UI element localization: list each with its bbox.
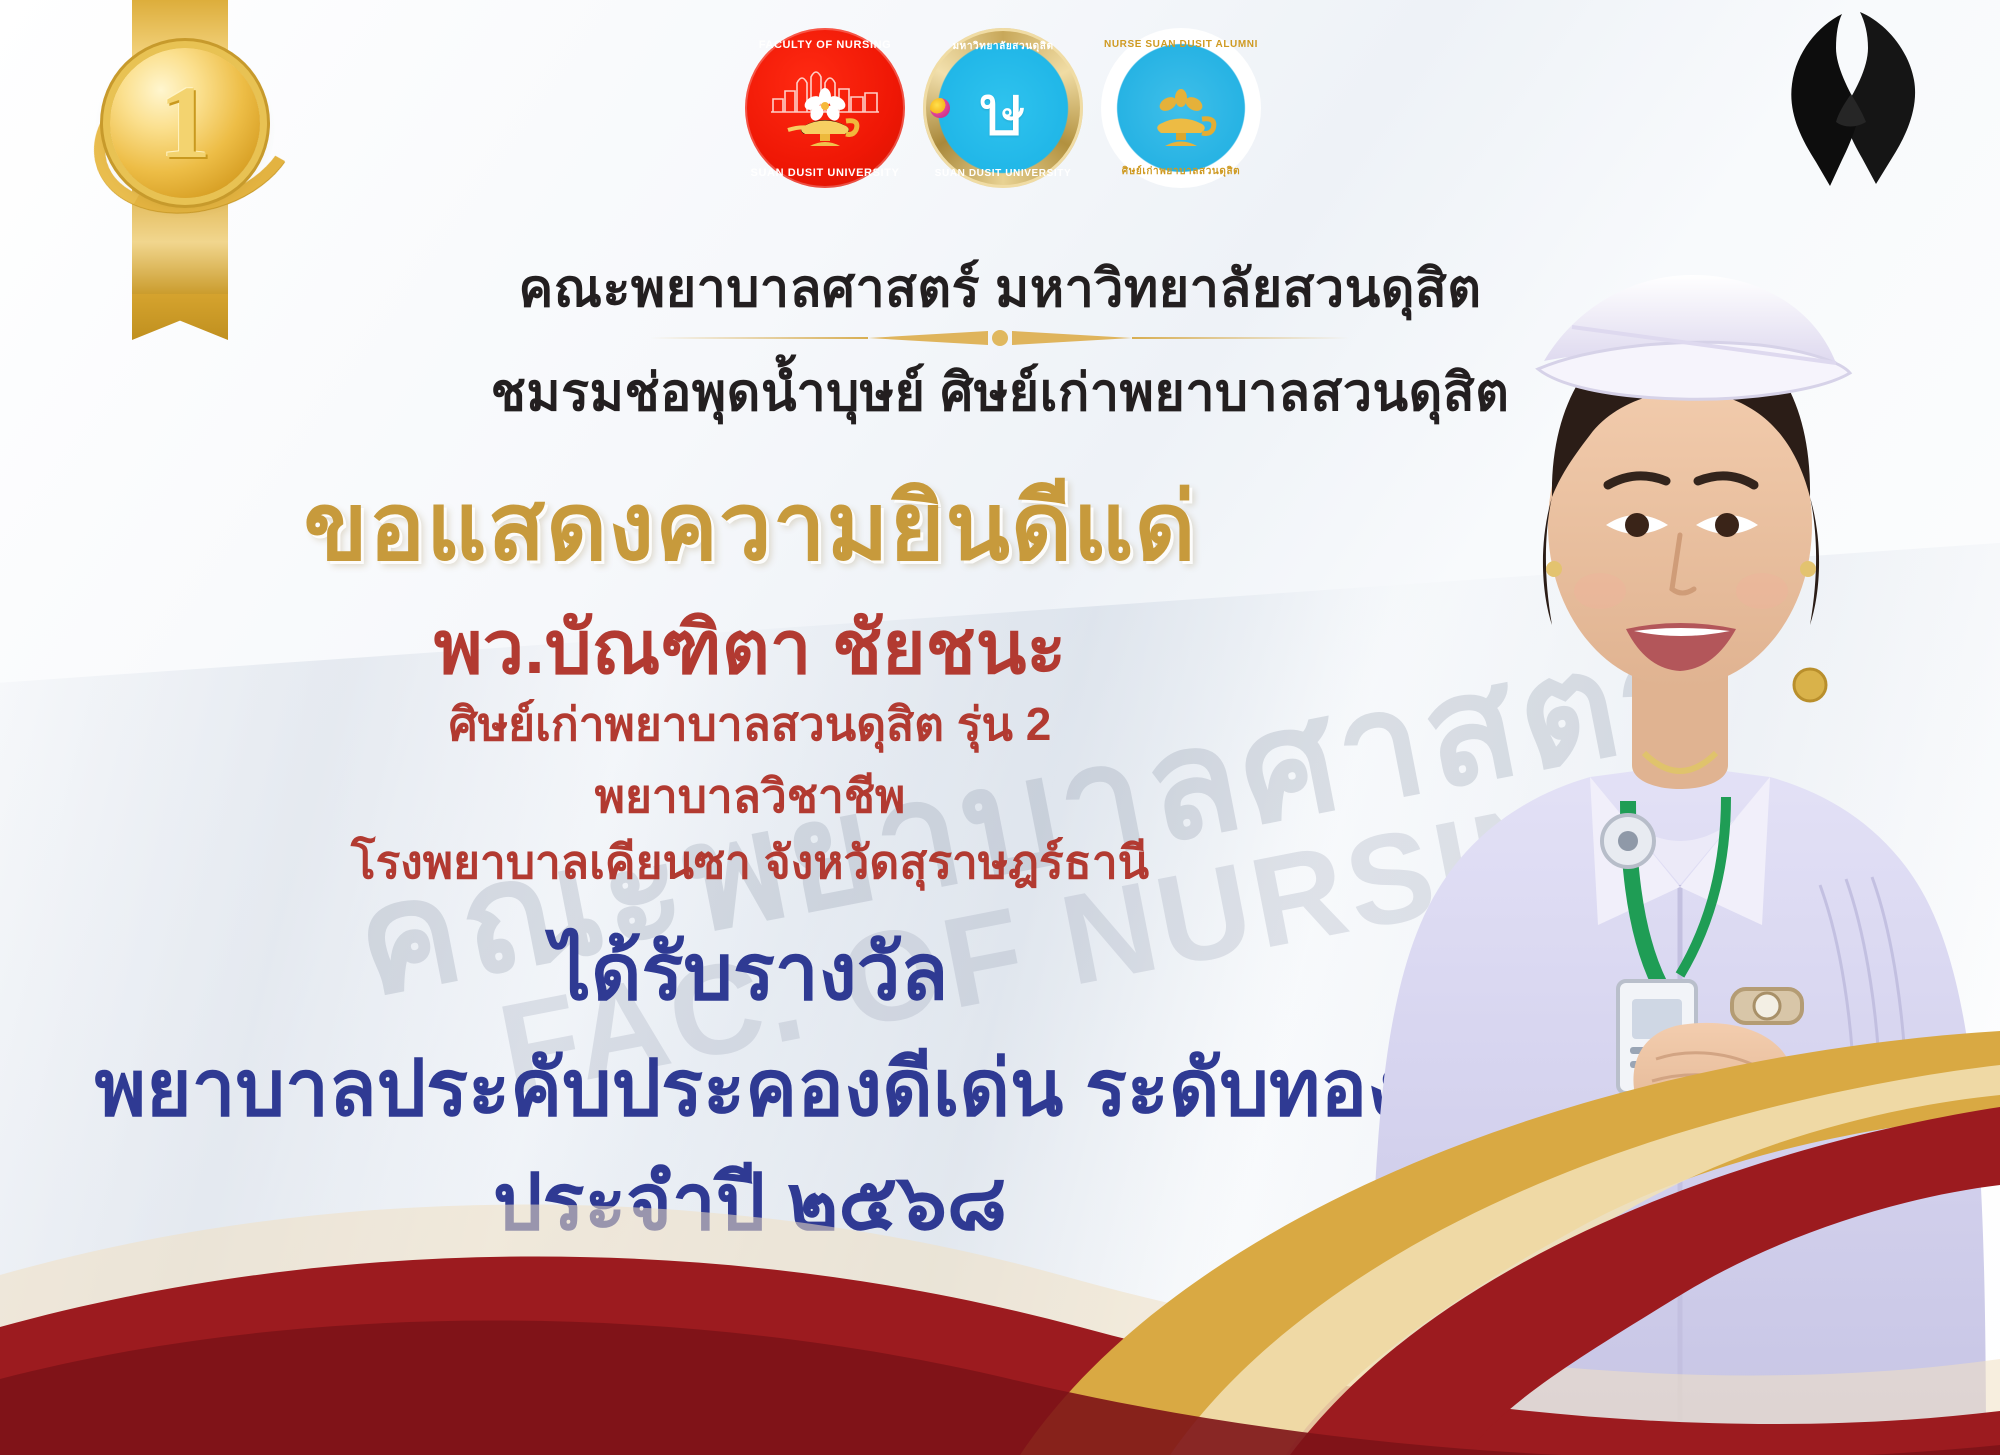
divider-arrow-left [868, 331, 988, 345]
nursing-lamp-icon [782, 88, 868, 148]
first-place-medal-icon: 1 [110, 48, 260, 198]
sdu-ring-top-text: มหาวิทยาลัยสวนดุสิต [923, 39, 1083, 54]
fon-ring-bottom-text: SUAN DUSIT UNIVERSITY [745, 167, 905, 179]
alumni-ring-top-text: NURSE SUAN DUSIT ALUMNI [1101, 39, 1261, 50]
suan-dusit-university-logo: มหาวิทยาลัยสวนดุสิต SUAN DUSIT UNIVERSIT… [923, 28, 1083, 188]
divider-line-left [650, 337, 868, 339]
fon-ring-top-text: FACULTY OF NURSING [745, 39, 905, 51]
divider-dot [992, 330, 1008, 346]
sdu-ring-bottom-text: SUAN DUSIT UNIVERSITY [923, 168, 1083, 179]
faculty-of-nursing-logo: FACULTY OF NURSING SUAN DUSIT UNIVERSITY [745, 28, 905, 188]
uniform-brooch [1794, 669, 1826, 701]
nurse-photo [1120, 125, 2000, 1455]
divider-arrow-right [1012, 331, 1132, 345]
sdu-monogram: ษ [979, 75, 1026, 147]
medal-number: 1 [159, 71, 211, 175]
congratulation-poster: คณะพยาบาลศาสตร์ FAC. OF NURSING 1 FACULT… [0, 0, 2000, 1455]
flower-icon [930, 98, 950, 118]
